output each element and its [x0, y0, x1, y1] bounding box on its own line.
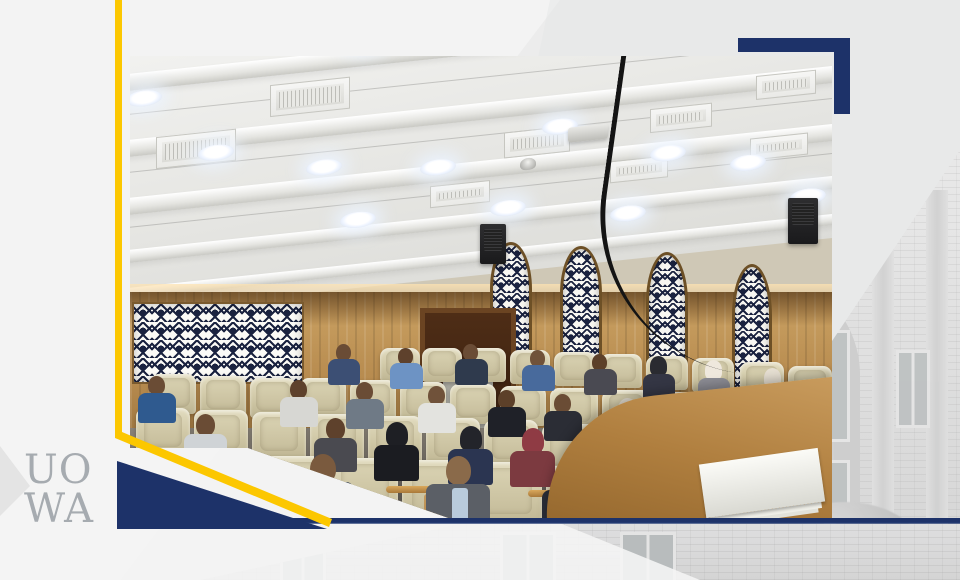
ceiling-vent: [270, 77, 350, 117]
lattice-panel: [132, 302, 304, 384]
ceiling-projector: [568, 124, 608, 143]
logo-line-two: WA: [24, 491, 116, 528]
wall-speaker: [480, 224, 506, 264]
ceiling-vent: [430, 180, 490, 208]
ceiling-downlight: [306, 158, 342, 178]
photo-bottom-rule-secondary: [200, 522, 960, 524]
watermark-window: [896, 350, 930, 428]
banner-stage: UO WA: [0, 0, 960, 580]
logo-line-one: UO: [24, 452, 116, 489]
uowa-logo: UO WA: [24, 452, 116, 536]
ceiling-downlight: [130, 88, 162, 108]
